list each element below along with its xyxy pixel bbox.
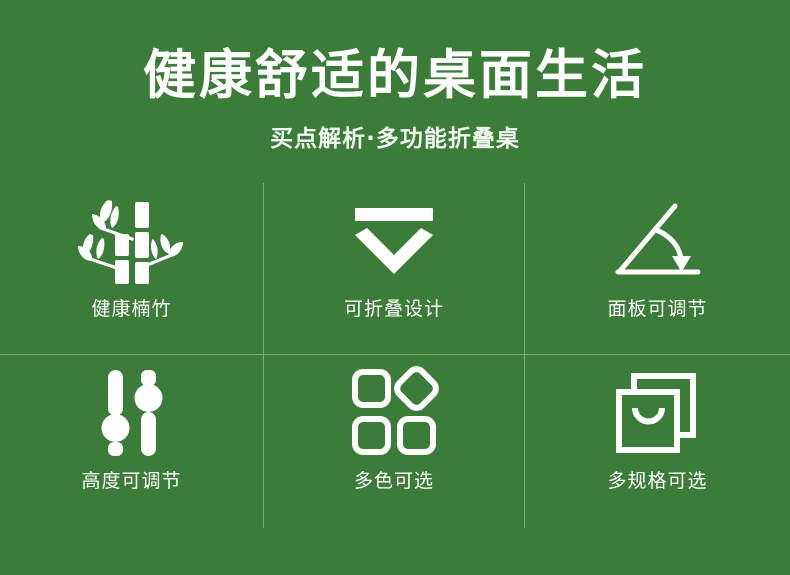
- bamboo-icon: [78, 187, 186, 292]
- fold-chevron-icon: [347, 187, 441, 292]
- feature-label: 面板可调节: [607, 294, 707, 321]
- feature-item-bamboo: 健康楠竹: [0, 183, 263, 355]
- multi-color-shapes-icon: [348, 359, 440, 464]
- feature-label: 高度可调节: [81, 466, 181, 493]
- page-subtitle: 买点解析·多功能折叠桌: [0, 119, 790, 153]
- angle-adjust-icon: [610, 187, 706, 292]
- feature-label: 健康楠竹: [91, 294, 171, 321]
- feature-item-panel-adjust: 面板可调节: [525, 183, 790, 355]
- feature-label: 多规格可选: [607, 466, 707, 493]
- height-slider-icon: [94, 359, 170, 464]
- feature-item-multi-spec: 多规格可选: [525, 355, 790, 528]
- stacked-squares-icon: [611, 359, 705, 464]
- feature-item-foldable: 可折叠设计: [263, 183, 525, 355]
- feature-item-multi-color: 多色可选: [263, 355, 525, 528]
- page-header: 健康舒适的桌面生活 买点解析·多功能折叠桌: [0, 0, 790, 153]
- feature-label: 可折叠设计: [344, 294, 444, 321]
- feature-item-height-adjust: 高度可调节: [0, 355, 263, 528]
- feature-label: 多色可选: [354, 466, 434, 493]
- page-title: 健康舒适的桌面生活: [0, 46, 790, 107]
- feature-grid: 健康楠竹 可折叠设计: [0, 183, 790, 528]
